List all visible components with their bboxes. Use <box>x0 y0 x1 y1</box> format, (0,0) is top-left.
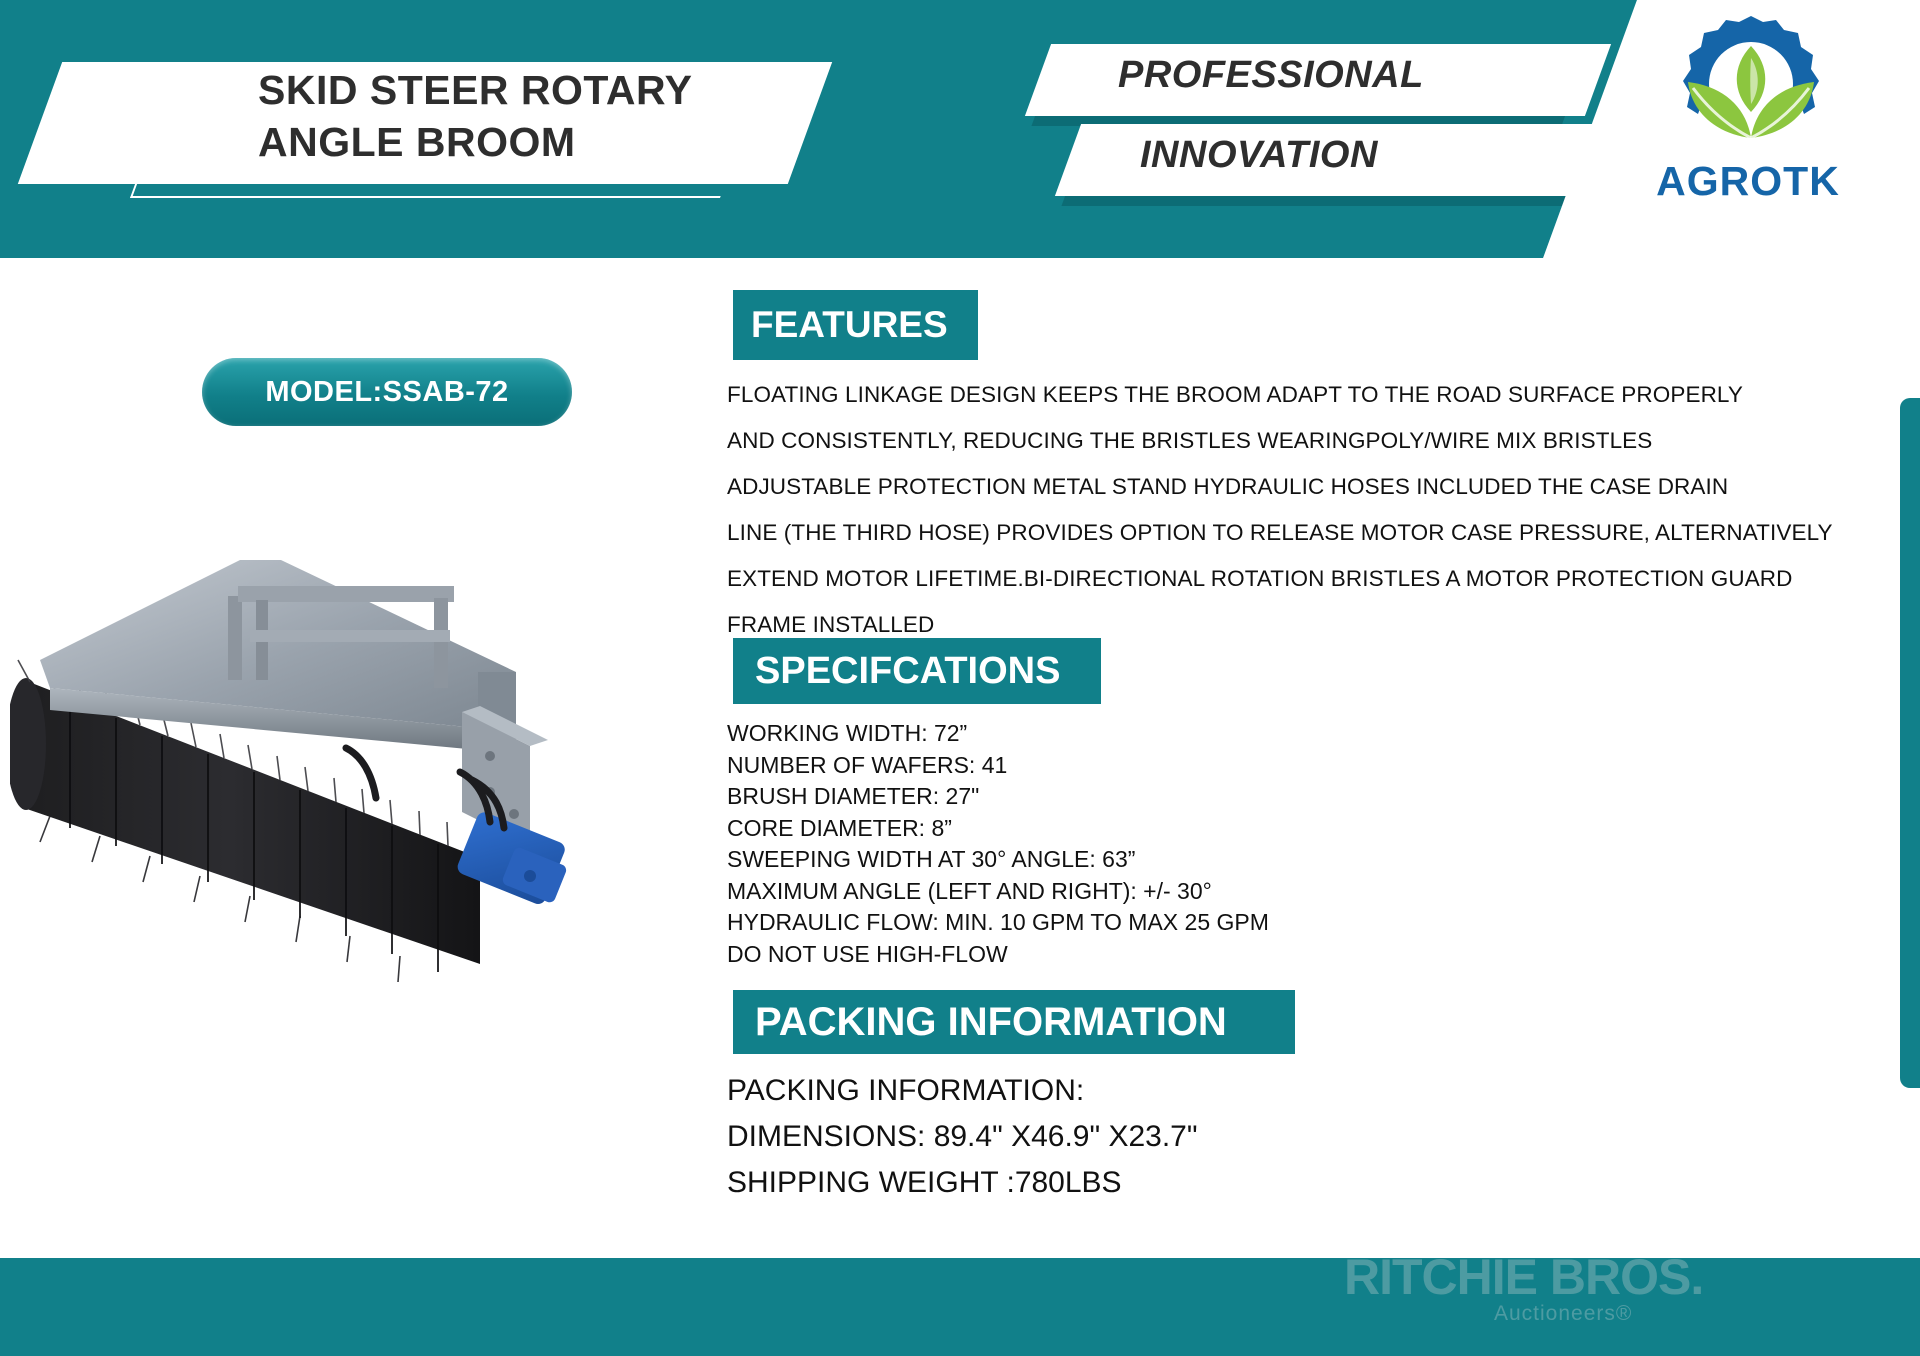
spec-line: NUMBER OF WAFERS: 41 <box>727 750 1527 782</box>
features-body: FLOATING LINKAGE DESIGN KEEPS THE BROOM … <box>727 372 1837 648</box>
product-photo-angle-broom <box>10 560 700 1030</box>
page-header: SKID STEER ROTARY ANGLE BROOM PROFESSION… <box>0 0 1920 258</box>
feature-line: LINE (THE THIRD HOSE) PROVIDES OPTION TO… <box>727 510 1837 556</box>
feature-line: EXTEND MOTOR LIFETIME.BI-DIRECTIONAL ROT… <box>727 556 1837 602</box>
spec-line: CORE DIAMETER: 8” <box>727 813 1527 845</box>
spec-line: DO NOT USE HIGH-FLOW <box>727 939 1527 971</box>
gear-leaf-icon <box>1666 10 1836 160</box>
footer-watermark-sub: Auctioneers® <box>1494 1302 1632 1326</box>
packing-line: DIMENSIONS: 89.4" X46.9" X23.7" <box>727 1114 1527 1160</box>
spec-line: BRUSH DIAMETER: 27" <box>727 781 1527 813</box>
feature-line: ADJUSTABLE PROTECTION METAL STAND HYDRAU… <box>727 464 1837 510</box>
tagline-professional: PROFESSIONAL <box>1118 54 1424 97</box>
specifications-body: WORKING WIDTH: 72” NUMBER OF WAFERS: 41 … <box>727 718 1527 970</box>
packing-line: SHIPPING WEIGHT :780LBS <box>727 1160 1527 1206</box>
tagline-innovation: INNOVATION <box>1140 134 1378 177</box>
page-footer: RITCHIE BROS. Auctioneers® <box>0 1258 1920 1356</box>
right-edge-accent-tab <box>1900 398 1920 1088</box>
footer-watermark: RITCHIE BROS. Auctioneers® <box>1344 1248 1904 1330</box>
model-badge: MODEL:SSAB-72 <box>202 358 572 426</box>
packing-line: PACKING INFORMATION: <box>727 1068 1527 1114</box>
model-badge-label: MODEL:SSAB-72 <box>202 376 572 409</box>
spec-line: WORKING WIDTH: 72” <box>727 718 1527 750</box>
specifications-heading: SPECIFCATIONS <box>733 638 1101 704</box>
feature-line: AND CONSISTENTLY, REDUCING THE BRISTLES … <box>727 418 1837 464</box>
brand-logo: AGROTK <box>1598 8 1898 218</box>
spec-line: HYDRAULIC FLOW: MIN. 10 GPM TO MAX 25 GP… <box>727 907 1527 939</box>
features-heading: FEATURES <box>733 290 978 360</box>
spec-line: MAXIMUM ANGLE (LEFT AND RIGHT): +/- 30° <box>727 876 1527 908</box>
packing-information-body: PACKING INFORMATION: DIMENSIONS: 89.4" X… <box>727 1068 1527 1206</box>
brand-wordmark: AGROTK <box>1598 158 1898 205</box>
feature-line: FLOATING LINKAGE DESIGN KEEPS THE BROOM … <box>727 372 1837 418</box>
page-title: SKID STEER ROTARY ANGLE BROOM <box>258 64 878 168</box>
spec-line: SWEEPING WIDTH AT 30° ANGLE: 63” <box>727 844 1527 876</box>
packing-information-heading: PACKING INFORMATION <box>733 990 1295 1054</box>
footer-watermark-main: RITCHIE BROS. <box>1344 1248 1703 1306</box>
product-spec-sheet: SKID STEER ROTARY ANGLE BROOM PROFESSION… <box>0 0 1920 1356</box>
